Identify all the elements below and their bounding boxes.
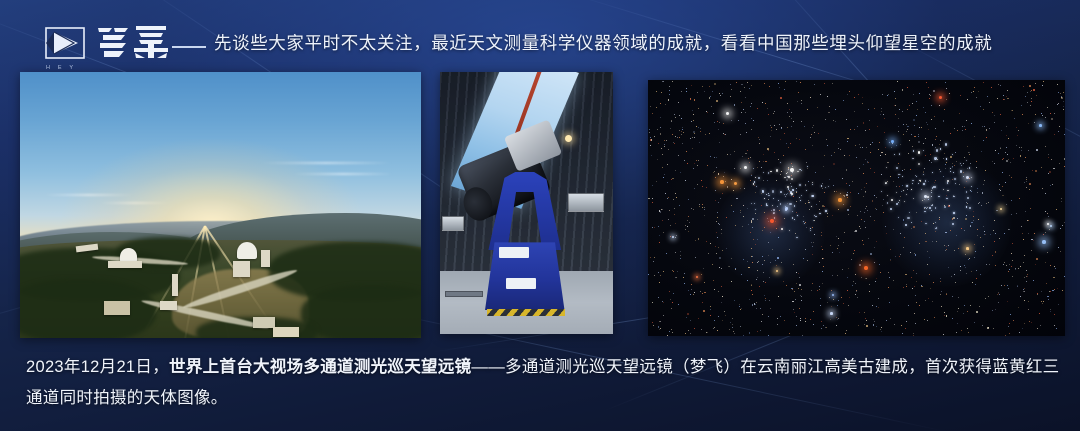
brand-sub-label: H E Y [46,65,76,71]
dome-control-panel [568,193,604,212]
header: H E Y [0,0,1080,72]
dome-lamp-icon [565,135,572,142]
telescope-nameplate-lower [506,278,536,289]
caption-date: 2023年12月21日， [26,358,169,376]
slide-root: H E Y [0,0,1080,431]
photo-starfield [648,80,1065,336]
observatory-dome-right [237,242,257,259]
telescope-nameplate-upper [499,247,529,258]
hey-answer-mark-icon: H E Y [44,26,86,62]
slide-caption: 2023年12月21日，世界上首台大视场多通道测光巡天望远镜——多通道测光巡天望… [26,352,1066,414]
floor-hazard-stripe [487,309,565,316]
dome-side-panel [442,216,464,231]
brand-wordmark-icon [94,22,176,62]
caption-emphasis: 世界上首台大视场多通道测光巡天望远镜 [169,358,471,376]
header-separator-rule [172,46,206,48]
brand-logo[interactable]: H E Y [44,22,176,62]
photo-observatory [20,72,421,338]
page-headline: 先谈些大家平时不太关注，最近天文测量科学仪器领域的成就，看看中国那些埋头仰望星空… [214,31,992,55]
dome-worktable [445,291,483,297]
photo-telescope [440,72,613,334]
